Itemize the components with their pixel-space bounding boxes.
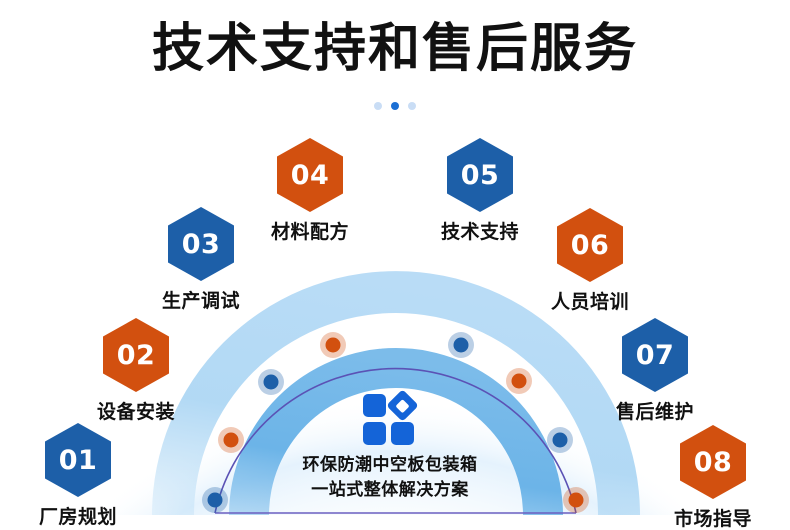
product-logo	[359, 392, 421, 450]
arc-marker-05[interactable]	[448, 332, 474, 358]
step-label-01: 厂房规划	[3, 502, 153, 529]
logo-diamond-top-right	[386, 389, 419, 422]
center-caption-line-2: 一站式整体解决方案	[245, 477, 535, 502]
marker-core	[264, 375, 279, 390]
marker-core	[208, 493, 223, 508]
step-label-03: 生产调试	[126, 286, 276, 313]
arc-marker-06[interactable]	[506, 368, 532, 394]
step-number-06: 06	[557, 208, 623, 282]
arc-marker-04[interactable]	[320, 332, 346, 358]
arc-marker-07[interactable]	[547, 427, 573, 453]
step-node-01[interactable]: 01厂房规划	[3, 423, 153, 529]
hexagon-icon-04: 04	[277, 138, 343, 212]
logo-square-bottom-right	[391, 422, 414, 445]
logo-square-bottom-left	[363, 422, 386, 445]
step-number-02: 02	[103, 318, 169, 392]
arc-marker-02[interactable]	[218, 427, 244, 453]
marker-core	[512, 374, 527, 389]
hexagon-icon-07: 07	[622, 318, 688, 392]
step-node-06[interactable]: 06人员培训	[515, 208, 665, 314]
marker-core	[326, 338, 341, 353]
hexagon-icon-01: 01	[45, 423, 111, 497]
step-number-03: 03	[168, 207, 234, 281]
step-label-06: 人员培训	[515, 287, 665, 314]
infographic-canvas: 技术支持和售后服务	[0, 0, 790, 530]
marker-core	[553, 433, 568, 448]
hexagon-icon-08: 08	[680, 425, 746, 499]
logo-square-top-left	[363, 394, 386, 417]
arc-marker-01[interactable]	[202, 487, 228, 513]
center-caption: 环保防潮中空板包装箱 一站式整体解决方案	[245, 452, 535, 502]
hexagon-icon-06: 06	[557, 208, 623, 282]
step-label-07: 售后维护	[580, 397, 730, 424]
arc-marker-03[interactable]	[258, 369, 284, 395]
arc-marker-08[interactable]	[563, 487, 589, 513]
marker-core	[454, 338, 469, 353]
marker-core	[569, 493, 584, 508]
hexagon-icon-05: 05	[447, 138, 513, 212]
center-caption-line-1: 环保防潮中空板包装箱	[245, 452, 535, 477]
hexagon-icon-03: 03	[168, 207, 234, 281]
step-number-01: 01	[45, 423, 111, 497]
step-node-07[interactable]: 07售后维护	[580, 318, 730, 424]
hexagon-icon-02: 02	[103, 318, 169, 392]
step-node-04[interactable]: 04材料配方	[235, 138, 385, 244]
step-label-08: 市场指导	[638, 504, 788, 530]
step-number-08: 08	[680, 425, 746, 499]
step-node-02[interactable]: 02设备安装	[61, 318, 211, 424]
marker-core	[224, 433, 239, 448]
step-label-04: 材料配方	[235, 217, 385, 244]
step-number-05: 05	[447, 138, 513, 212]
step-number-07: 07	[622, 318, 688, 392]
step-label-02: 设备安装	[61, 397, 211, 424]
step-node-08[interactable]: 08市场指导	[638, 425, 788, 530]
step-number-04: 04	[277, 138, 343, 212]
